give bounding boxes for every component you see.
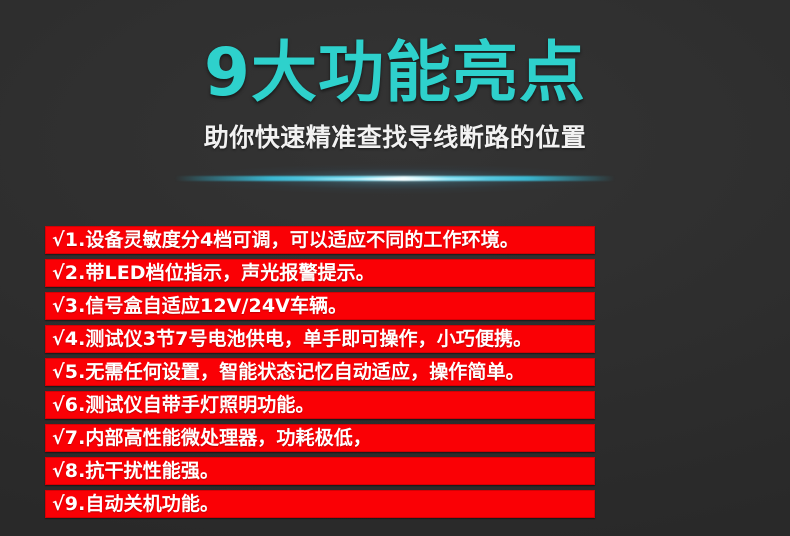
feature-item-label: √6.测试仪自带手灯照明功能。 [45,391,315,419]
feature-item-3: √3.信号盒自适应12V/24V车辆。 [45,292,595,320]
feature-item-label: √9.自动关机功能。 [45,490,219,518]
feature-item-7: √7.内部高性能微处理器，功耗极低， [45,424,595,452]
feature-item-9: √9.自动关机功能。 [45,490,595,518]
divider-core-highlight [300,178,490,180]
feature-item-4: √4.测试仪3节7号电池供电，单手即可操作，小巧便携。 [45,325,595,353]
page-title: 9大功能亮点 [0,33,790,113]
feature-item-5: √5.无需任何设置，智能状态记忆自动适应，操作简单。 [45,358,595,386]
page-subtitle: 助你快速精准查找导线断路的位置 [0,122,790,154]
feature-list: √1.设备灵敏度分4档可调，可以适应不同的工作环境。 √2.带LED档位指示，声… [45,226,595,518]
glow-divider [0,162,790,196]
feature-item-1: √1.设备灵敏度分4档可调，可以适应不同的工作环境。 [45,226,595,254]
feature-item-2: √2.带LED档位指示，声光报警提示。 [45,259,595,287]
feature-item-6: √6.测试仪自带手灯照明功能。 [45,391,595,419]
feature-item-label: √8.抗干扰性能强。 [45,457,219,485]
feature-item-8: √8.抗干扰性能强。 [45,457,595,485]
feature-item-label: √1.设备灵敏度分4档可调，可以适应不同的工作环境。 [45,226,519,254]
feature-item-label: √3.信号盒自适应12V/24V车辆。 [45,292,347,320]
feature-item-label: √7.内部高性能微处理器，功耗极低， [45,424,372,452]
feature-item-label: √4.测试仪3节7号电池供电，单手即可操作，小巧便携。 [45,325,532,353]
promo-page: 9大功能亮点 助你快速精准查找导线断路的位置 √1.设备灵敏度分4档可调，可以适… [0,0,790,536]
feature-item-label: √5.无需任何设置，智能状态记忆自动适应，操作简单。 [45,358,525,386]
feature-item-label: √2.带LED档位指示，声光报警提示。 [45,259,375,287]
